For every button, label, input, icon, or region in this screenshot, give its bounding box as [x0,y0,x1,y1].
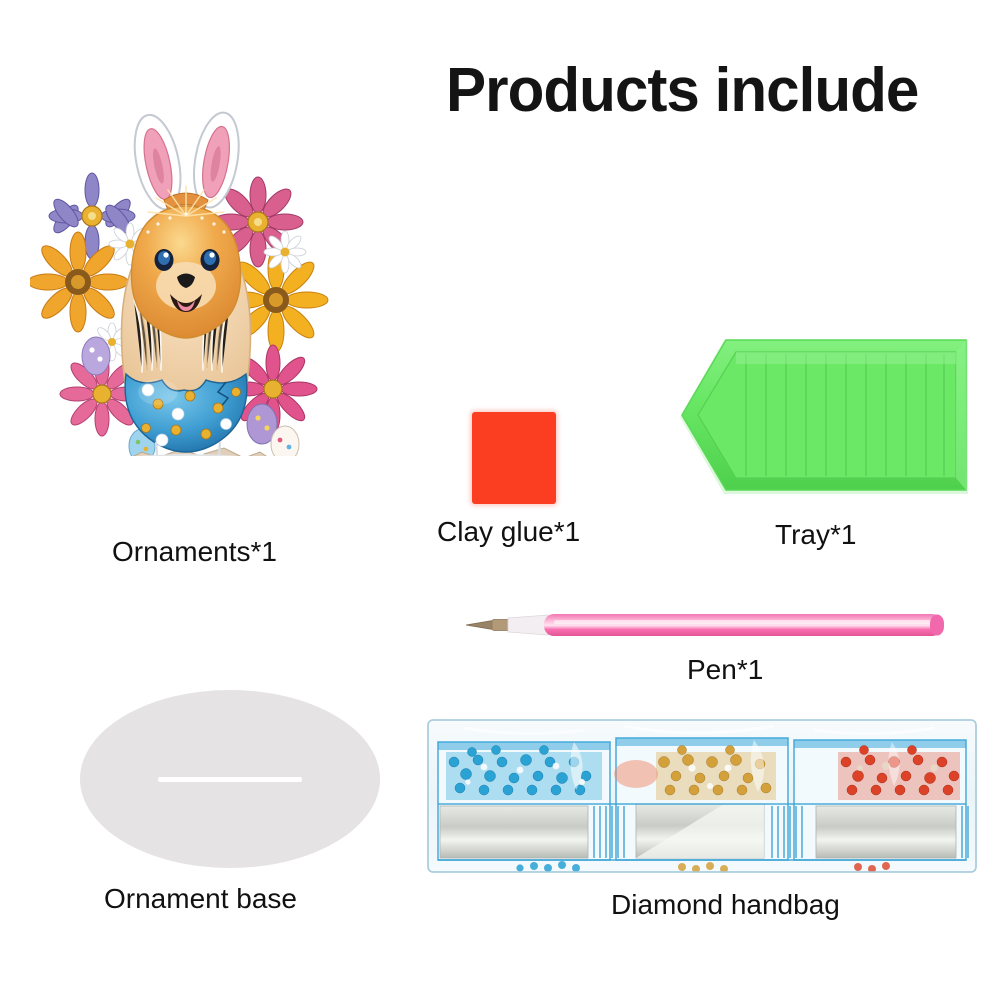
ornament-base-label: Ornament base [104,885,297,913]
dog-head [131,186,240,338]
ornaments-image [30,104,330,456]
pen-label: Pen*1 [687,656,763,684]
page-title: Products include [446,60,975,122]
product-includes-page: Products include [0,0,1001,1001]
diamond-handbag-image [424,712,980,880]
tray-label: Tray*1 [775,521,856,549]
ornaments-label: Ornaments*1 [112,538,277,566]
diamond-handbag-label: Diamond handbag [611,891,840,919]
foil-strips [440,804,956,858]
pen-image [462,605,950,645]
gems-red [838,746,960,801]
clay-glue-image [472,412,556,504]
ornament-base-image [80,690,380,868]
base-slot [158,777,302,782]
clay-glue-label: Clay glue*1 [437,518,580,546]
tray-image [620,320,976,510]
